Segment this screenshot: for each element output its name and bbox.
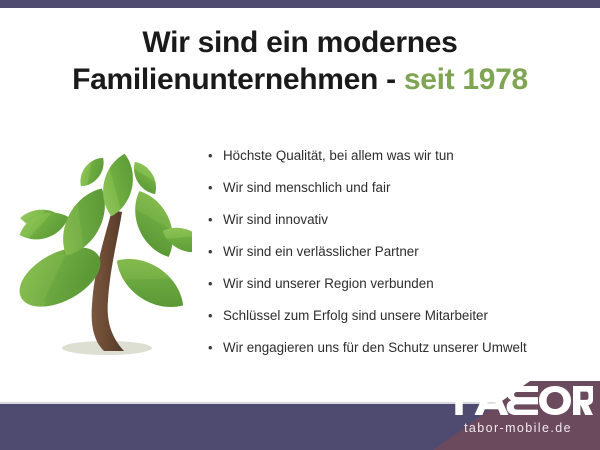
tabor-logotype-icon [443,386,593,416]
list-item-label: Wir sind ein verlässlicher Partner [223,236,419,268]
bullet-marker-icon: • [208,332,223,364]
logo-letter-O [539,386,571,415]
list-item: • Wir engagieren uns für den Schutz unse… [208,332,594,364]
headline-line-2-main: Familienunternehmen - [72,63,404,96]
list-item: • Wir sind innovativ [208,204,594,236]
leaf [107,246,192,319]
page-title: Wir sind ein modernes Familienunternehme… [0,24,600,98]
tree-illustration [12,140,192,365]
top-accent-bar [0,0,600,8]
bullet-marker-icon: • [208,300,223,332]
logo-letter-T [443,386,475,415]
headline-accent-year: seit 1978 [404,63,528,96]
leaf [125,185,183,264]
logo-letter-A [475,386,509,415]
list-item: • Höchste Qualität, bei allem was wir tu… [208,140,594,172]
bullet-marker-icon: • [208,172,223,204]
list-item: • Wir sind menschlich und fair [208,172,594,204]
bullet-marker-icon: • [208,236,223,268]
list-item-label: Wir sind innovativ [223,204,328,236]
slide-canvas: Wir sind ein modernes Familienunternehme… [0,0,600,450]
brand-wordmark[interactable] [443,386,593,416]
list-item-label: Wir engagieren uns für den Schutz unsere… [223,332,527,364]
bullet-marker-icon: • [208,204,223,236]
list-item: • Wir sind unserer Region verbunden [208,268,594,300]
list-item-label: Wir sind menschlich und fair [223,172,390,204]
list-item: • Wir sind ein verlässlicher Partner [208,236,594,268]
headline-line-1: Wir sind ein modernes [0,24,600,61]
logo-letter-R [573,386,593,415]
leaf [128,158,162,199]
brand-url[interactable]: tabor-mobile.de [443,420,593,436]
bullet-marker-icon: • [208,268,223,300]
list-item: • Schlüssel zum Erfolg sind unsere Mitar… [208,300,594,332]
benefits-list: • Höchste Qualität, bei allem was wir tu… [208,140,594,364]
headline-line-2: Familienunternehmen - seit 1978 [0,61,600,98]
bullet-marker-icon: • [208,140,223,172]
logo-letter-B-mirrored [507,386,538,415]
tree-icon [12,140,192,365]
list-item-label: Schlüssel zum Erfolg sind unsere Mitarbe… [223,300,488,332]
list-item-label: Höchste Qualität, bei allem was wir tun [223,140,454,172]
list-item-label: Wir sind unserer Region verbunden [223,268,434,300]
